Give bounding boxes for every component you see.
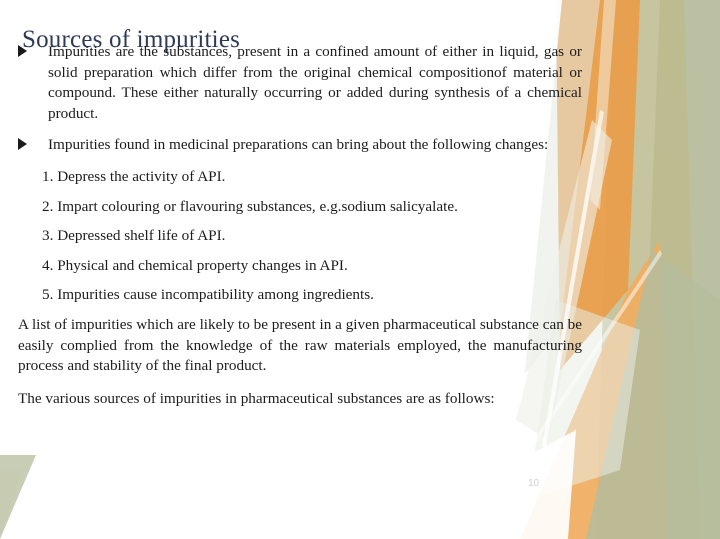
bullet-item: Impurities found in medicinal preparatio…	[0, 135, 600, 156]
list-item: 3. Depressed shelf life of API.	[42, 226, 580, 247]
list-item: 2. Impart colouring or flavouring substa…	[42, 197, 580, 218]
list-item: 1. Depress the activity of API.	[42, 167, 580, 188]
bullet-item: Impurities are the substances, present i…	[0, 42, 600, 124]
paragraph: The various sources of impurities in pha…	[18, 389, 582, 410]
triangle-bullet-icon	[18, 45, 27, 57]
bullet-text: Impurities found in medicinal preparatio…	[48, 135, 582, 156]
bullet-text: Impurities are the substances, present i…	[48, 42, 582, 124]
list-item: 5. Impurities cause incompatibility amon…	[42, 285, 580, 306]
sage-field-right	[606, 0, 720, 539]
list-item: 4. Physical and chemical property change…	[42, 256, 580, 277]
paragraph: A list of impurities which are likely to…	[18, 315, 582, 377]
olive-band	[596, 0, 700, 539]
sage-wedge-bottom-right	[586, 250, 720, 539]
slide-canvas: Sources of impurities Impurities are the…	[0, 0, 720, 539]
closing-paragraphs: A list of impurities which are likely to…	[0, 315, 600, 409]
slide-content: Sources of impurities Impurities are the…	[0, 0, 600, 539]
body-content: Impurities are the substances, present i…	[0, 42, 600, 421]
triangle-bullet-icon	[18, 138, 27, 150]
numbered-list: 1. Depress the activity of API. 2. Impar…	[0, 167, 600, 306]
page-number: 10	[528, 478, 539, 490]
